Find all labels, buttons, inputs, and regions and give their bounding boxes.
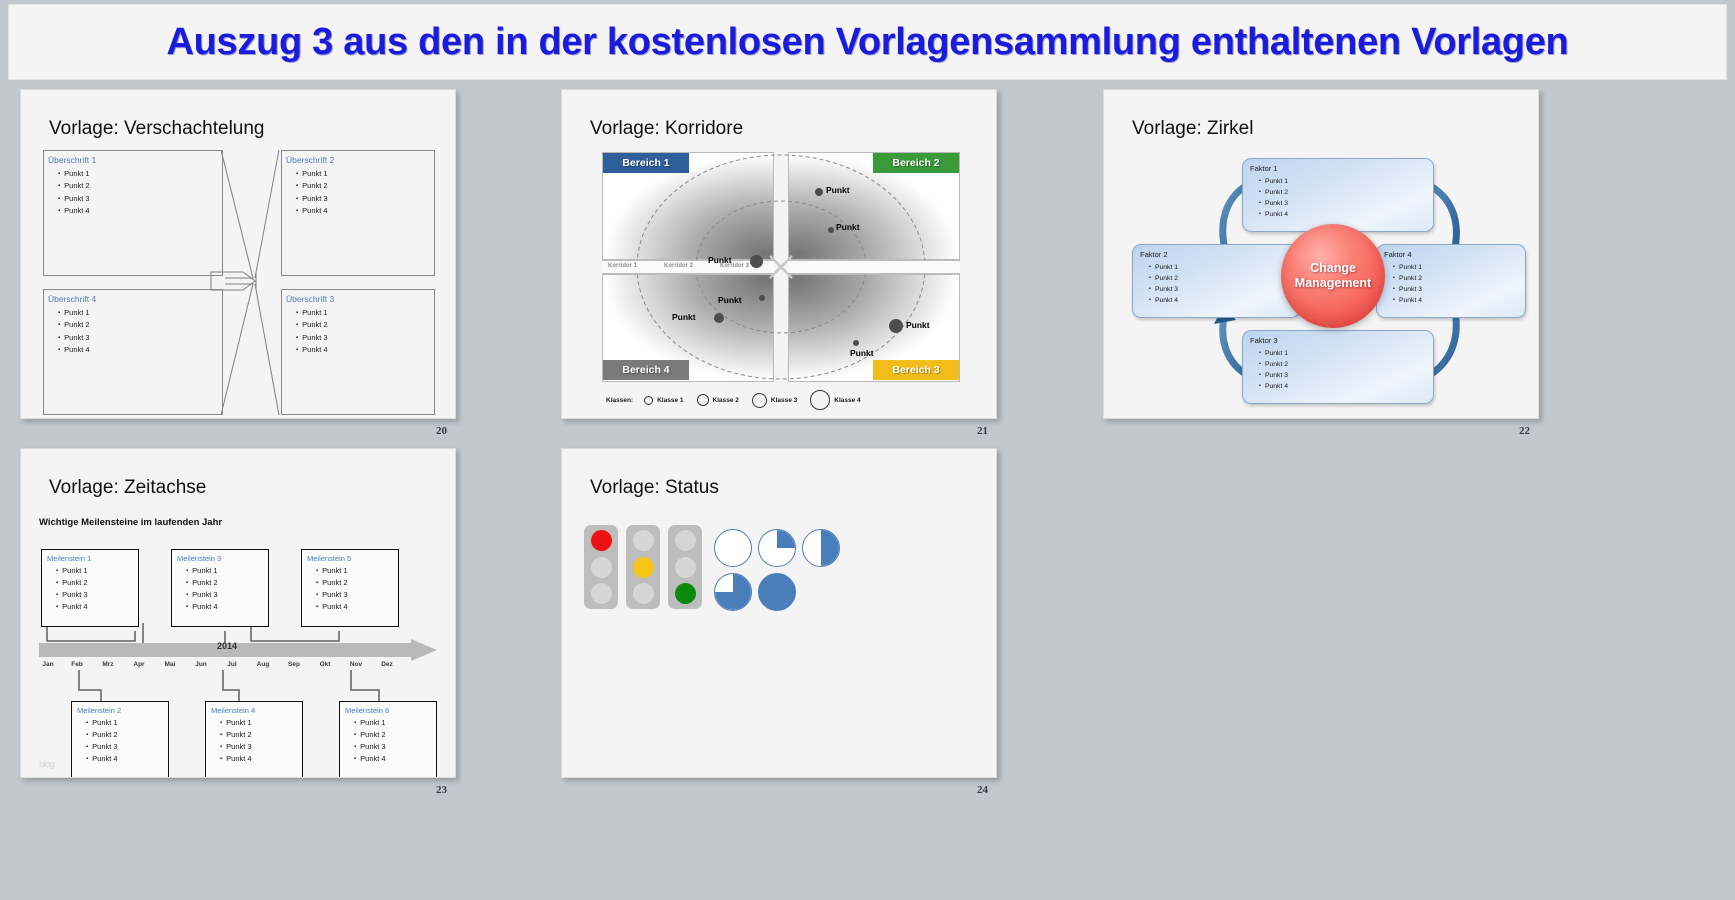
slide-zirkel[interactable]: Vorlage: Zirkel — [1103, 89, 1539, 419]
slide-title-zirkel: Vorlage: Zirkel — [1132, 118, 1253, 140]
zirkel-factor-3[interactable]: Faktor 3 Punkt 1 Punkt 2 Punkt 3 Punkt 4 — [1242, 330, 1434, 404]
corridor-label-1: Korridor 1 — [608, 263, 637, 269]
pie-25-icon[interactable] — [758, 529, 796, 567]
slide-title-korridore: Vorlage: Korridore — [590, 118, 743, 140]
milestone-box-1[interactable]: Meilenstein 1 Punkt 1 Punkt 2 Punkt 3 Pu… — [41, 549, 139, 627]
box-item: Punkt 4 — [296, 344, 434, 356]
korridore-point-label: Punkt — [826, 185, 850, 195]
slide-number-21: 21 — [977, 425, 988, 437]
korridore-point[interactable] — [759, 295, 765, 301]
milestone-box-6[interactable]: Meilenstein 6 Punkt 1 Punkt 2 Punkt 3 Pu… — [339, 701, 437, 778]
korridore-area-tag-4[interactable]: Bereich 4 — [603, 360, 689, 380]
korridore-point-label: Punkt — [708, 255, 732, 265]
verschachtelung-box-4[interactable]: Überschrift 4 Punkt 1 Punkt 2 Punkt 3 Pu… — [43, 289, 223, 415]
milestone-item: Punkt 4 — [220, 753, 302, 765]
box-item: Punkt 1 — [58, 168, 222, 180]
korridore-area-tag-2[interactable]: Bereich 2 — [873, 153, 959, 173]
lamp-green-off-icon — [591, 583, 612, 604]
pie-50-fill — [803, 530, 839, 566]
month-label: Nov — [343, 661, 369, 668]
zeitachse-year: 2014 — [217, 641, 237, 651]
korridore-point-label: Punkt — [836, 222, 860, 232]
box-item: Punkt 4 — [296, 205, 434, 217]
factor-item: Punkt 1 — [1393, 262, 1525, 273]
milestone-item: Punkt 3 — [186, 589, 268, 601]
pie-75-icon[interactable] — [714, 573, 752, 611]
lamp-red-on-icon — [591, 530, 612, 551]
legend-label: Klasse 3 — [771, 397, 797, 404]
legend-class-2[interactable]: Klasse 2 — [697, 394, 739, 406]
legend-class-4[interactable]: Klasse 4 — [810, 390, 860, 410]
factor-heading: Faktor 3 — [1250, 336, 1433, 345]
factor-heading: Faktor 2 — [1140, 250, 1299, 259]
milestone-box-4[interactable]: Meilenstein 4 Punkt 1 Punkt 2 Punkt 3 Pu… — [205, 701, 303, 778]
korridore-point[interactable] — [828, 227, 834, 233]
factor-item: Punkt 4 — [1149, 295, 1299, 306]
korridore-matrix: Korridor 1 Korridor 2 Korridor 3 Bereich… — [602, 152, 960, 380]
zeitachse-watermark: blog — [39, 759, 54, 769]
factor-item: Punkt 1 — [1149, 262, 1299, 273]
page-title-bar: Auszug 3 aus den in der kostenlosen Vorl… — [8, 4, 1727, 80]
box-item: Punkt 1 — [58, 307, 222, 319]
lamp-yellow-off-icon — [675, 557, 696, 578]
legend-title: Klassen: — [606, 397, 633, 404]
box-item: Punkt 4 — [58, 344, 222, 356]
month-label: Dez — [374, 661, 400, 668]
pie-100-icon[interactable] — [758, 573, 796, 611]
korridore-point[interactable] — [750, 255, 763, 268]
class-ring-icon — [644, 396, 653, 405]
box-heading: Überschrift 1 — [48, 155, 222, 165]
month-label: Apr — [126, 661, 152, 668]
korridore-point-label: Punkt — [672, 312, 696, 322]
lamp-yellow-off-icon — [591, 557, 612, 578]
box-item: Punkt 2 — [58, 180, 222, 192]
milestone-heading: Meilenstein 5 — [307, 554, 398, 563]
zirkel-center-badge[interactable]: Change Management — [1281, 224, 1385, 328]
milestone-heading: Meilenstein 3 — [177, 554, 268, 563]
traffic-light-red[interactable] — [584, 525, 618, 609]
korridore-point[interactable] — [853, 340, 859, 346]
korridore-point-label: Punkt — [850, 348, 874, 358]
milestone-item: Punkt 1 — [186, 565, 268, 577]
pie-25-fill — [759, 530, 795, 566]
milestone-item: Punkt 3 — [56, 589, 138, 601]
milestone-box-5[interactable]: Meilenstein 5 Punkt 1 Punkt 2 Punkt 3 Pu… — [301, 549, 399, 627]
lamp-red-off-icon — [633, 530, 654, 551]
pie-0-icon[interactable] — [714, 529, 752, 567]
verschachtelung-diagram: Überschrift 1 Punkt 1 Punkt 2 Punkt 3 Pu… — [43, 150, 435, 415]
korridore-area-tag-3[interactable]: Bereich 3 — [873, 360, 959, 380]
box-item: Punkt 2 — [58, 319, 222, 331]
lamp-red-off-icon — [675, 530, 696, 551]
factor-item: Punkt 4 — [1259, 381, 1433, 392]
legend-label: Klasse 4 — [834, 397, 860, 404]
box-item: Punkt 3 — [296, 332, 434, 344]
month-label: Jun — [188, 661, 214, 668]
zeitachse-diagram: 2014 Jan Feb Mrz Apr Mai Jun Jul Aug Sep… — [39, 535, 439, 775]
milestone-item: Punkt 2 — [316, 577, 398, 589]
milestone-heading: Meilenstein 2 — [77, 706, 168, 715]
legend-class-1[interactable]: Klasse 1 — [644, 396, 683, 405]
class-ring-icon — [697, 394, 709, 406]
zirkel-diagram: Faktor 1 Punkt 1 Punkt 2 Punkt 3 Punkt 4… — [1118, 146, 1528, 416]
milestone-item: Punkt 3 — [220, 741, 302, 753]
korridore-point[interactable] — [815, 188, 823, 196]
milestone-item: Punkt 4 — [316, 601, 398, 613]
zeitachse-subtitle: Wichtige Meilensteine im laufenden Jahr — [39, 517, 222, 528]
milestone-heading: Meilenstein 4 — [211, 706, 302, 715]
pie-75-fill — [715, 574, 751, 610]
milestone-item: Punkt 4 — [354, 753, 436, 765]
slide-zeitachse[interactable]: Vorlage: Zeitachse Wichtige Meilensteine… — [20, 448, 456, 778]
factor-heading: Faktor 1 — [1250, 164, 1433, 173]
month-label: Jul — [219, 661, 245, 668]
lamp-green-on-icon — [675, 583, 696, 604]
korridore-area-tag-1[interactable]: Bereich 1 — [603, 153, 689, 173]
factor-item: Punkt 4 — [1259, 209, 1433, 220]
milestone-box-2[interactable]: Meilenstein 2 Punkt 1 Punkt 2 Punkt 3 Pu… — [71, 701, 169, 778]
milestone-item: Punkt 4 — [86, 753, 168, 765]
month-label: Sep — [281, 661, 307, 668]
pie-50-icon[interactable] — [802, 529, 840, 567]
slide-korridore[interactable]: Vorlage: Korridore — [561, 89, 997, 419]
verschachtelung-box-2[interactable]: Überschrift 2 Punkt 1 Punkt 2 Punkt 3 Pu… — [281, 150, 435, 276]
milestone-heading: Meilenstein 1 — [47, 554, 138, 563]
milestone-item: Punkt 2 — [56, 577, 138, 589]
traffic-light-yellow[interactable] — [626, 525, 660, 609]
month-label: Mai — [157, 661, 183, 668]
factor-item: Punkt 1 — [1259, 176, 1433, 187]
legend-class-3[interactable]: Klasse 3 — [752, 393, 797, 408]
factor-item: Punkt 3 — [1259, 370, 1433, 381]
slide-number-23: 23 — [436, 784, 447, 796]
factor-heading: Faktor 4 — [1384, 250, 1525, 259]
factor-item: Punkt 2 — [1259, 359, 1433, 370]
korridore-point[interactable] — [714, 313, 724, 323]
slide-title-verschachtelung: Vorlage: Verschachtelung — [49, 118, 265, 140]
factor-item: Punkt 2 — [1149, 273, 1299, 284]
korridore-point-label: Punkt — [718, 295, 742, 305]
slide-number-24: 24 — [977, 784, 988, 796]
zeitachse-axis: 2014 Jan Feb Mrz Apr Mai Jun Jul Aug Sep… — [39, 639, 439, 673]
milestone-item: Punkt 1 — [316, 565, 398, 577]
presentation-overview: Auszug 3 aus den in der kostenlosen Vorl… — [0, 0, 1735, 900]
legend-label: Klasse 2 — [713, 397, 739, 404]
milestone-item: Punkt 3 — [86, 741, 168, 753]
factor-item: Punkt 2 — [1393, 273, 1525, 284]
verschachtelung-box-3[interactable]: Überschrift 3 Punkt 1 Punkt 2 Punkt 3 Pu… — [281, 289, 435, 415]
factor-item: Punkt 1 — [1259, 348, 1433, 359]
milestone-item: Punkt 2 — [220, 729, 302, 741]
milestone-item: Punkt 1 — [354, 717, 436, 729]
month-label: Mrz — [95, 661, 121, 668]
box-heading: Überschrift 3 — [286, 294, 434, 304]
lamp-yellow-on-icon — [633, 557, 654, 578]
korridore-point[interactable] — [889, 319, 903, 333]
month-label: Okt — [312, 661, 338, 668]
zirkel-factor-2[interactable]: Faktor 2 Punkt 1 Punkt 2 Punkt 3 Punkt 4 — [1132, 244, 1300, 318]
lamp-green-off-icon — [633, 583, 654, 604]
milestone-item: Punkt 1 — [56, 565, 138, 577]
box-item: Punkt 3 — [58, 332, 222, 344]
page-title: Auszug 3 aus den in der kostenlosen Vorl… — [167, 21, 1569, 64]
korridore-legend: Klassen: Klasse 1 Klasse 2 Klasse 3 Klas… — [606, 390, 867, 410]
factor-item: Punkt 3 — [1259, 198, 1433, 209]
milestone-item: Punkt 2 — [354, 729, 436, 741]
month-label: Jan — [35, 661, 61, 668]
box-item: Punkt 4 — [58, 205, 222, 217]
factor-item: Punkt 3 — [1393, 284, 1525, 295]
zirkel-factor-4[interactable]: Faktor 4 Punkt 1 Punkt 2 Punkt 3 Punkt 4 — [1376, 244, 1526, 318]
korridore-point-label: Punkt — [906, 320, 930, 330]
milestone-heading: Meilenstein 6 — [345, 706, 436, 715]
milestone-item: Punkt 3 — [354, 741, 436, 753]
class-ring-icon — [752, 393, 767, 408]
slide-title-status: Vorlage: Status — [590, 477, 719, 499]
milestone-item: Punkt 3 — [316, 589, 398, 601]
factor-item: Punkt 3 — [1149, 284, 1299, 295]
box-heading: Überschrift 4 — [48, 294, 222, 304]
zirkel-factor-1[interactable]: Faktor 1 Punkt 1 Punkt 2 Punkt 3 Punkt 4 — [1242, 158, 1434, 232]
milestone-item: Punkt 1 — [86, 717, 168, 729]
korridore-band — [788, 260, 960, 274]
factor-item: Punkt 2 — [1259, 187, 1433, 198]
factor-item: Punkt 4 — [1393, 295, 1525, 306]
box-item: Punkt 3 — [58, 193, 222, 205]
box-item: Punkt 1 — [296, 168, 434, 180]
milestone-item: Punkt 4 — [186, 601, 268, 613]
center-label-line-2: Management — [1295, 276, 1371, 291]
slide-verschachtelung[interactable]: Vorlage: Verschachtelung Überschrift 1 P… — [20, 89, 456, 419]
milestone-item: Punkt 1 — [220, 717, 302, 729]
corridor-label-2: Korridor 2 — [664, 263, 693, 269]
box-item: Punkt 3 — [296, 193, 434, 205]
month-label: Feb — [64, 661, 90, 668]
milestone-item: Punkt 4 — [56, 601, 138, 613]
month-label: Aug — [250, 661, 276, 668]
slide-number-20: 20 — [436, 425, 447, 437]
class-ring-icon — [810, 390, 830, 410]
center-label-line-1: Change — [1310, 261, 1356, 276]
traffic-light-green[interactable] — [668, 525, 702, 609]
box-item: Punkt 1 — [296, 307, 434, 319]
box-item: Punkt 2 — [296, 180, 434, 192]
milestone-item: Punkt 2 — [186, 577, 268, 589]
milestone-box-3[interactable]: Meilenstein 3 Punkt 1 Punkt 2 Punkt 3 Pu… — [171, 549, 269, 627]
slide-status[interactable]: Vorlage: Status — [561, 448, 997, 778]
milestone-item: Punkt 2 — [86, 729, 168, 741]
legend-label: Klasse 1 — [657, 397, 683, 404]
box-heading: Überschrift 2 — [286, 155, 434, 165]
slide-number-22: 22 — [1519, 425, 1530, 437]
box-item: Punkt 2 — [296, 319, 434, 331]
verschachtelung-box-1[interactable]: Überschrift 1 Punkt 1 Punkt 2 Punkt 3 Pu… — [43, 150, 223, 276]
slide-title-zeitachse: Vorlage: Zeitachse — [49, 477, 206, 499]
